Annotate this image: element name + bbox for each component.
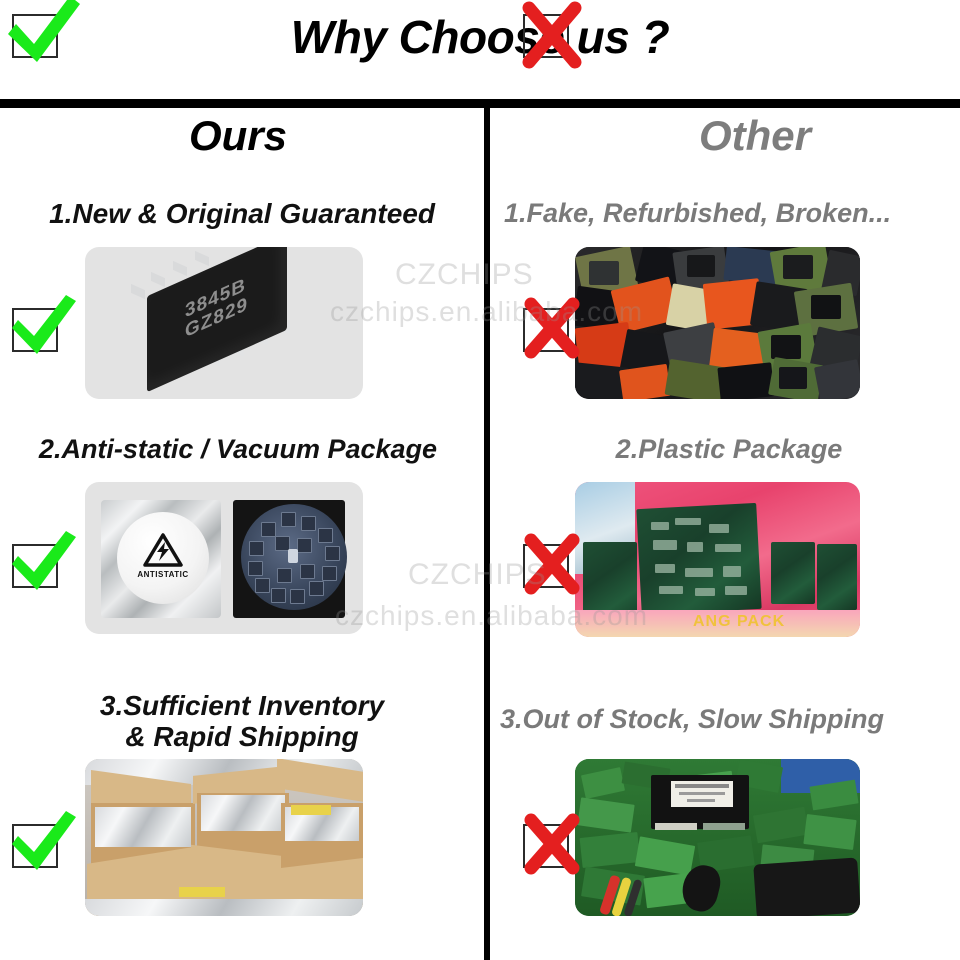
ours-row2-image: ANTISTATIC xyxy=(85,482,363,634)
ours-row2-check-icon xyxy=(12,544,58,588)
header-ours-check-icon xyxy=(12,14,58,58)
ours-row3-title: 3.Sufficient Inventory & Rapid Shipping xyxy=(16,690,468,753)
plastic-pack-label: ANG PACK xyxy=(693,613,853,631)
other-row1-x-icon xyxy=(523,308,569,352)
column-ours-heading: Ours xyxy=(0,112,484,160)
page-title: Why Choose us ? xyxy=(0,10,960,64)
other-row2-x-icon xyxy=(523,544,569,588)
other-row1-title: 1.Fake, Refurbished, Broken... xyxy=(504,198,960,228)
header-other-x-icon xyxy=(523,14,569,58)
antistatic-label: ANTISTATIC xyxy=(117,570,209,579)
ours-row1-check-icon xyxy=(12,308,58,352)
ours-row3-title-line2: & Rapid Shipping xyxy=(16,721,468,752)
esd-warning-icon xyxy=(143,532,183,568)
other-row2-image: ANG PACK xyxy=(575,482,860,637)
ours-row2-title: 2.Anti-static / Vacuum Package xyxy=(8,434,468,464)
other-row1-image xyxy=(575,247,860,399)
ours-row1-image: 3845B GZ829 xyxy=(85,247,363,399)
ours-row3-image xyxy=(85,759,363,916)
column-other-heading: Other xyxy=(490,112,960,160)
column-other: Other 1.Fake, Refurbished, Broken... xyxy=(490,104,960,960)
why-choose-us-comparison: Why Choose us ? Ours 1.New & Original Gu… xyxy=(0,0,960,960)
other-row3-title: 3.Out of Stock, Slow Shipping xyxy=(500,704,960,734)
ours-row3-title-line1: 3.Sufficient Inventory xyxy=(16,690,468,721)
other-row3-x-icon xyxy=(523,824,569,868)
other-row2-title: 2.Plastic Package xyxy=(504,434,954,464)
column-ours: Ours 1.New & Original Guaranteed 3845B G… xyxy=(0,104,484,960)
other-row3-image xyxy=(575,759,860,916)
ours-row3-check-icon xyxy=(12,824,58,868)
ours-row1-title: 1.New & Original Guaranteed xyxy=(16,198,468,229)
